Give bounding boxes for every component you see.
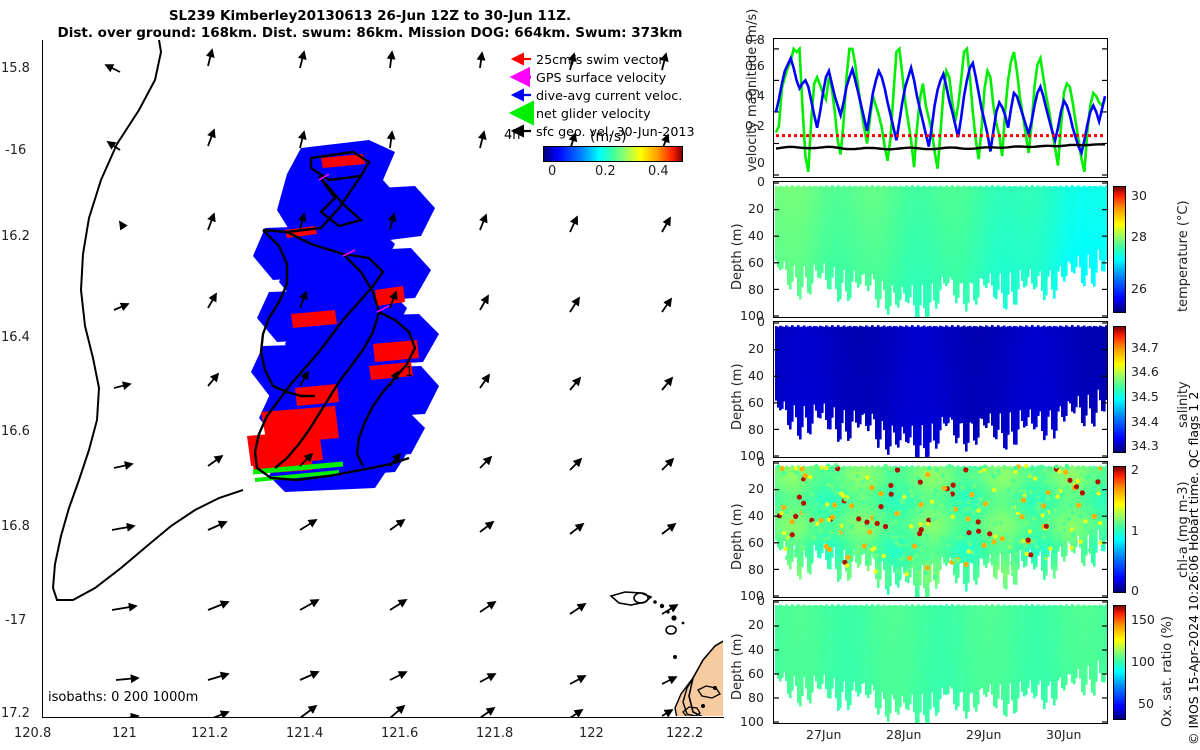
temperature-section — [774, 182, 1107, 317]
sal-depth-tick: 80 — [748, 422, 764, 437]
temp-colorbar-tick: 26 — [1131, 281, 1147, 296]
chl-a-colorbar — [1113, 466, 1126, 593]
sal-depth-tick: 60 — [748, 395, 764, 410]
chl-depth-tick: 0 — [757, 454, 765, 469]
velocity-y-tick: 0.4 — [745, 88, 765, 103]
chl-a-depth-label: Depth (m) — [730, 503, 745, 570]
map-y-tick: -16 — [5, 143, 26, 158]
ox-sat-colorbar — [1113, 605, 1126, 720]
ox-depth-tick: 0 — [757, 593, 765, 608]
sal-depth-tick: 0 — [757, 314, 765, 329]
chl-a-section — [774, 462, 1107, 597]
map-y-tick: 16.6 — [1, 424, 30, 439]
page-title-line1: SL239 Kimberley20130613 26-Jun 12Z to 30… — [0, 8, 740, 24]
temp-depth-tick: 80 — [748, 282, 764, 297]
chl-depth-tick: 80 — [748, 562, 764, 577]
ox-depth-tick: 40 — [748, 642, 764, 657]
salinity-panel[interactable] — [773, 321, 1108, 458]
map-x-tick: 122.2 — [666, 726, 703, 741]
chl-colorbar-tick: 1 — [1131, 523, 1139, 538]
map-x-tick: 121.8 — [476, 726, 513, 741]
sal-depth-tick: 20 — [748, 341, 764, 356]
map-x-tick: 120.8 — [14, 726, 51, 741]
chl-colorbar-tick: 0 — [1131, 583, 1139, 598]
legend-label-dive-avg-current: dive-avg current veloc. — [536, 88, 682, 103]
sal-colorbar-tick: 34.6 — [1131, 364, 1159, 379]
sal-colorbar-tick: 34.7 — [1131, 340, 1159, 355]
temperature-depth-label: Depth (m) — [730, 223, 745, 290]
chl-colorbar-tick: 2 — [1131, 462, 1139, 477]
temperature-panel[interactable] — [773, 181, 1108, 318]
ox-depth-tick: 20 — [748, 617, 764, 632]
salinity-depth-label: Depth (m) — [730, 363, 745, 430]
ox-colorbar-tick: 50 — [1138, 696, 1154, 711]
velocity-y-tick: 0.6 — [745, 58, 765, 73]
map-x-tick: 121.4 — [286, 726, 323, 741]
temp-colorbar-tick: 30 — [1131, 188, 1147, 203]
map-x-tick: 122 — [579, 726, 604, 741]
track-number-label: 1 — [405, 365, 413, 380]
legend-label-net-glider-velocity: net glider velocity — [536, 106, 651, 121]
temp-depth-tick: 60 — [748, 255, 764, 270]
chl-depth-tick: 40 — [748, 508, 764, 523]
velocity-y-tick: 0.8 — [745, 32, 765, 47]
map-x-tick: 121 — [112, 726, 137, 741]
timeseries-x-tick: 30Jun — [1046, 727, 1081, 742]
map-y-tick: 16.4 — [1, 330, 30, 345]
timeseries-x-tick: 29Jun — [966, 727, 1001, 742]
temperature-colorbar — [1113, 186, 1126, 313]
timeseries-x-tick: 27Jun — [806, 727, 841, 742]
velocity-magnitude-panel[interactable] — [773, 38, 1108, 178]
chl-a-panel[interactable] — [773, 461, 1108, 598]
map-colorbar — [543, 146, 683, 162]
map-y-tick: 16.2 — [1, 229, 30, 244]
map-y-tick: -17 — [5, 613, 26, 628]
isobaths-label: isobaths: 0 200 1000m — [48, 690, 198, 705]
salinity-colorbar — [1113, 326, 1126, 453]
sal-colorbar-tick: 34.3 — [1131, 438, 1159, 453]
temp-depth-tick: 40 — [748, 228, 764, 243]
ox-depth-tick: 60 — [748, 666, 764, 681]
velocity-y-tick: 0.2 — [745, 118, 765, 133]
map-x-tick: 121.2 — [191, 726, 228, 741]
velocity-magnitude-chart — [774, 39, 1107, 177]
legend-label-gps-surface-velocity: GPS surface velocity — [536, 70, 666, 85]
velocity-y-tick: 0 — [757, 155, 765, 170]
salinity-section — [774, 322, 1107, 457]
temp-colorbar-tick: 28 — [1131, 229, 1147, 244]
ox-depth-tick: 100 — [740, 714, 764, 729]
page-title-line2: Dist. over ground: 168km. Dist. swum: 86… — [0, 25, 740, 41]
ox-colorbar-tick: 100 — [1131, 654, 1155, 669]
map-y-tick: 15.8 — [1, 61, 30, 76]
chl-depth-tick: 60 — [748, 535, 764, 550]
map-colorbar-tick: 0 — [548, 164, 556, 179]
map-colorbar-tick: 0.4 — [648, 164, 669, 179]
map-x-tick: 121.6 — [381, 726, 418, 741]
temperature-colorbar-label: temperature (°C) — [1176, 200, 1191, 312]
map-y-tick: 17.2 — [1, 706, 30, 721]
sal-colorbar-tick: 34.5 — [1131, 389, 1159, 404]
chl-depth-tick: 20 — [748, 481, 764, 496]
ox-sat-depth-label: Depth (m) — [730, 633, 745, 700]
map-colorbar-unit: (m/s) — [590, 129, 627, 145]
copyright-text: © IMOS 15-Apr-2024 10:26:06 Hobart time.… — [1186, 392, 1200, 745]
map-colorbar-tick: 0.2 — [595, 164, 616, 179]
legend-label-swim-vector: 25cm/s swim vector — [536, 52, 664, 67]
timeseries-x-tick: 28Jun — [886, 727, 921, 742]
sal-colorbar-tick: 34.4 — [1131, 414, 1159, 429]
ox-sat-section — [774, 601, 1107, 723]
sal-depth-tick: 40 — [748, 368, 764, 383]
temp-depth-tick: 20 — [748, 201, 764, 216]
ox-depth-tick: 80 — [748, 690, 764, 705]
temp-depth-tick: 0 — [757, 174, 765, 189]
map-y-tick: 16.8 — [1, 519, 30, 534]
ox-sat-colorbar-label: Ox. sat. ratio (%) — [1160, 616, 1175, 727]
ox-colorbar-tick: 150 — [1131, 612, 1155, 627]
ox-sat-ratio-panel[interactable] — [773, 600, 1108, 724]
